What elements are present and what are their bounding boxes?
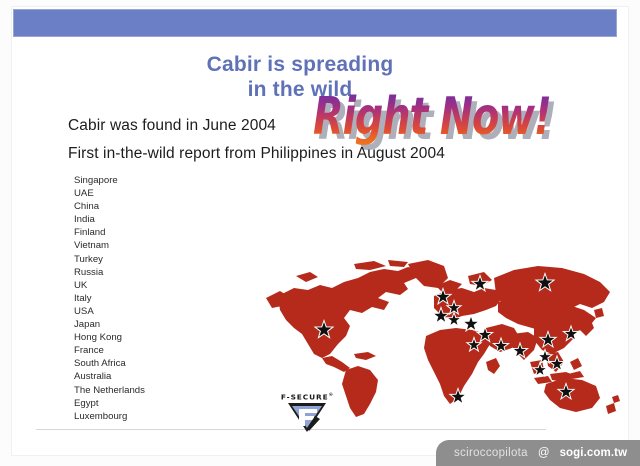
- list-item: The Netherlands: [74, 384, 224, 397]
- list-item: Russia: [74, 266, 224, 279]
- list-item: Hong Kong: [74, 331, 224, 344]
- list-item: Egypt: [74, 397, 224, 410]
- list-item: Japan: [74, 318, 224, 331]
- statement-found: Cabir was found in June 2004: [68, 117, 276, 135]
- list-item: Turkey: [74, 253, 224, 266]
- list-item: China: [74, 200, 224, 213]
- slide-banner-bar: [13, 9, 617, 37]
- watermark-username: sciroccopilota: [454, 447, 528, 459]
- list-item: Italy: [74, 292, 224, 305]
- right-now-wordart: Right Now! Right Now!: [313, 86, 513, 142]
- list-item: India: [74, 213, 224, 226]
- list-item: France: [74, 344, 224, 357]
- f-secure-wordmark-text: F-SECURE: [281, 392, 329, 401]
- list-item: Finland: [74, 226, 224, 239]
- list-item: USA: [74, 305, 224, 318]
- list-item: Australia: [74, 370, 224, 383]
- watermark-badge: sciroccopilota @ sogi.com.tw: [436, 440, 640, 466]
- registered-trademark-icon: ®: [329, 393, 334, 398]
- list-item: UK: [74, 279, 224, 292]
- headline-line-1: Cabir is spreading: [150, 52, 450, 77]
- list-item: Vietnam: [74, 239, 224, 252]
- f-secure-logo: F-SECURE®: [276, 391, 338, 437]
- list-item: South Africa: [74, 357, 224, 370]
- watermark-at-symbol: @: [538, 447, 550, 459]
- statement-first-report: First in-the-wild report from Philippine…: [68, 145, 445, 163]
- list-item: UAE: [74, 187, 224, 200]
- f-secure-triangle-mark: [276, 402, 338, 438]
- list-item: Singapore: [74, 174, 224, 187]
- slide-frame: Cabir is spreading in the wild Right Now…: [0, 0, 640, 466]
- f-secure-wordmark: F-SECURE®: [276, 391, 338, 401]
- map-star-italy: [463, 316, 479, 331]
- right-now-wordart-text: Right Now!: [313, 86, 551, 146]
- list-item: Luxembourg: [74, 410, 224, 423]
- watermark-site: sogi.com.tw: [560, 447, 628, 459]
- affected-country-list: Singapore UAE China India Finland Vietna…: [74, 174, 224, 423]
